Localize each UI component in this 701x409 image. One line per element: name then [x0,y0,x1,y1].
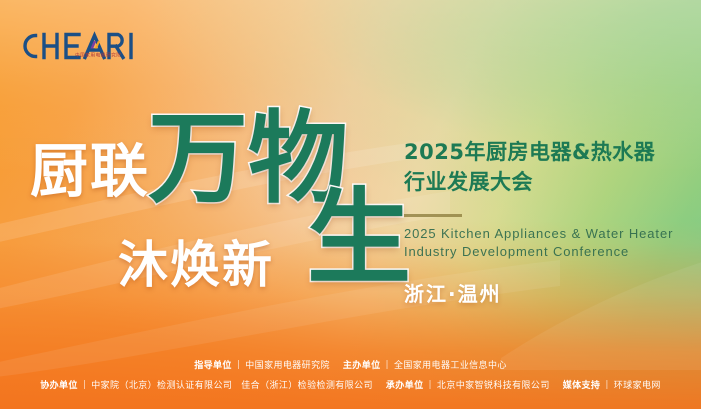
headline-muhuanxin: 沐焕新 [118,240,274,290]
credit-separator: | [237,360,240,370]
credits-row-1: 指导单位 | 中国家用电器研究院 主办单位 | 全国家用电器工业信息中心 [194,358,507,371]
credits-block: 指导单位 | 中国家用电器研究院 主办单位 | 全国家用电器工业信息中心 协办单… [0,358,701,391]
credit-value-coorganizer-1: 中家院（北京）检测认证有限公司 [91,378,232,391]
credit-value-undertaker: 北京中家智锐科技有限公司 [437,378,550,391]
credit-separator: | [605,380,608,390]
conference-title-en-line2: Industry Development Conference [404,243,689,261]
conference-title-cn-line1: 2025年厨房电器&热水器 [404,138,689,168]
credit-value-coorganizer-2: 佳合（浙江）检验检测有限公司 [241,378,373,391]
hero-headline: 厨联 万物 生 沐焕新 [0,0,420,340]
credit-value-host: 全国家用电器工业信息中心 [394,358,507,371]
conference-city: 浙江·温州 [404,278,689,307]
credits-row-2: 协办单位 | 中家院（北京）检测认证有限公司 佳合（浙江）检验检测有限公司 承办… [40,378,661,391]
credit-separator: | [428,380,431,390]
credit-value-media: 环球家电网 [614,378,661,391]
credit-separator: | [386,360,389,370]
credit-label-coorganizer: 协办单位 [40,378,78,391]
conference-title-en-line1: 2025 Kitchen Appliances & Water Heater [404,225,689,243]
conference-banner: 中国家用电器研究院 厨联 万物 生 沐焕新 2025年厨房电器&热水器 行业发展… [0,0,701,409]
conference-info: 2025年厨房电器&热水器 行业发展大会 2025 Kitchen Applia… [404,138,689,307]
title-divider [404,214,462,217]
credit-label-media: 媒体支持 [563,378,601,391]
credit-label-guidance: 指导单位 [194,358,232,371]
credit-value-guidance: 中国家用电器研究院 [245,358,330,371]
conference-title-cn-line2: 行业发展大会 [404,168,689,198]
headline-sheng: 生 [307,186,411,290]
headline-chulian: 厨联 [30,142,150,200]
credit-separator: | [83,380,86,390]
credit-label-host: 主办单位 [343,358,381,371]
credit-label-undertaker: 承办单位 [386,378,424,391]
